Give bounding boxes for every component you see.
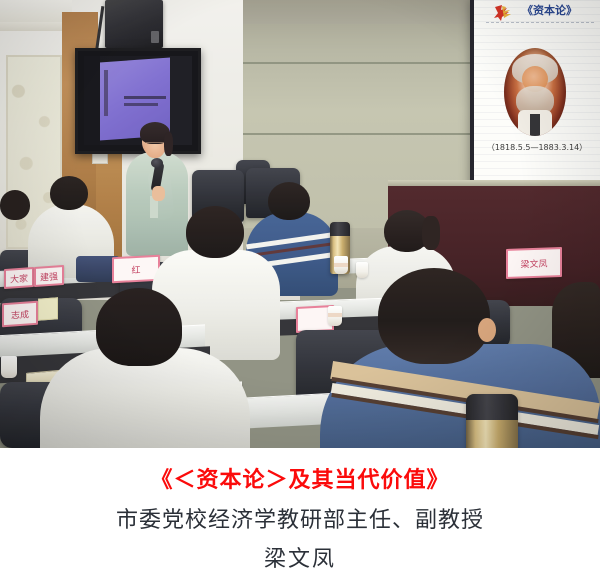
foreground-attendee-ear [478,318,496,342]
attendee-head [0,190,30,220]
thermos-flask [466,394,518,448]
attendee-head [186,206,244,258]
party-emblem-icon [492,4,514,22]
caption-block: 《＜资本论＞及其当代价值》 市委党校经济学教研部主任、副教授 梁文凤 [0,448,600,587]
attendee-head [268,182,310,220]
cup-band [328,313,342,317]
paper-cup [356,262,368,278]
foreground-attendee-head [378,268,490,364]
marx-portrait [504,48,566,136]
foreground-attendee-head [96,288,182,366]
microphone-head [151,158,163,168]
attendee-ponytail [422,216,440,250]
lecture-photo-card: 《资本论》 （1818.5.5—1883.3.14） [0,0,600,587]
thermos-cap [330,222,350,236]
attendee-head [50,176,88,210]
presenter-name: 梁文凤 [264,547,336,573]
name-placard: 志成 [2,301,38,328]
sticky-note [38,297,58,320]
name-placard: 梁文凤 [506,247,562,279]
tv-text-line [124,96,166,99]
tv-dark-edge-right [170,56,192,145]
cup-band [334,263,348,267]
presenter-role: 市委党校经济学教研部主任、副教授 [116,508,484,534]
tv-text-line [124,103,158,106]
projector-screen: 《资本论》 （1818.5.5—1883.3.14） [474,0,600,182]
slide-divider [486,22,594,23]
wall-tv-monitor [75,48,201,154]
name-placard: 建强 [34,265,64,287]
name-placard: 大家 [4,267,34,289]
lecture-title: 《＜资本论＞及其当代价值》 [150,468,449,494]
paper-cup [334,256,348,274]
classroom-photo: 《资本论》 （1818.5.5—1883.3.14） [0,0,600,448]
ceiling-speaker [105,0,163,48]
presenter-glasses-icon [146,142,164,148]
slide-title: 《资本论》 [522,2,577,18]
presenter-hair-side [164,132,173,156]
thermos-cap [466,394,518,420]
portrait-tie [530,114,540,136]
tv-screen [84,56,192,145]
slide-dates: （1818.5.5—1883.3.14） [474,142,600,153]
paper-cup [328,306,342,326]
paper-cup [1,356,17,378]
speaker-badge-icon [151,31,159,43]
tv-vertical-text [104,70,108,116]
tv-dark-edge-left [84,56,100,145]
presenter-hand [152,186,165,201]
